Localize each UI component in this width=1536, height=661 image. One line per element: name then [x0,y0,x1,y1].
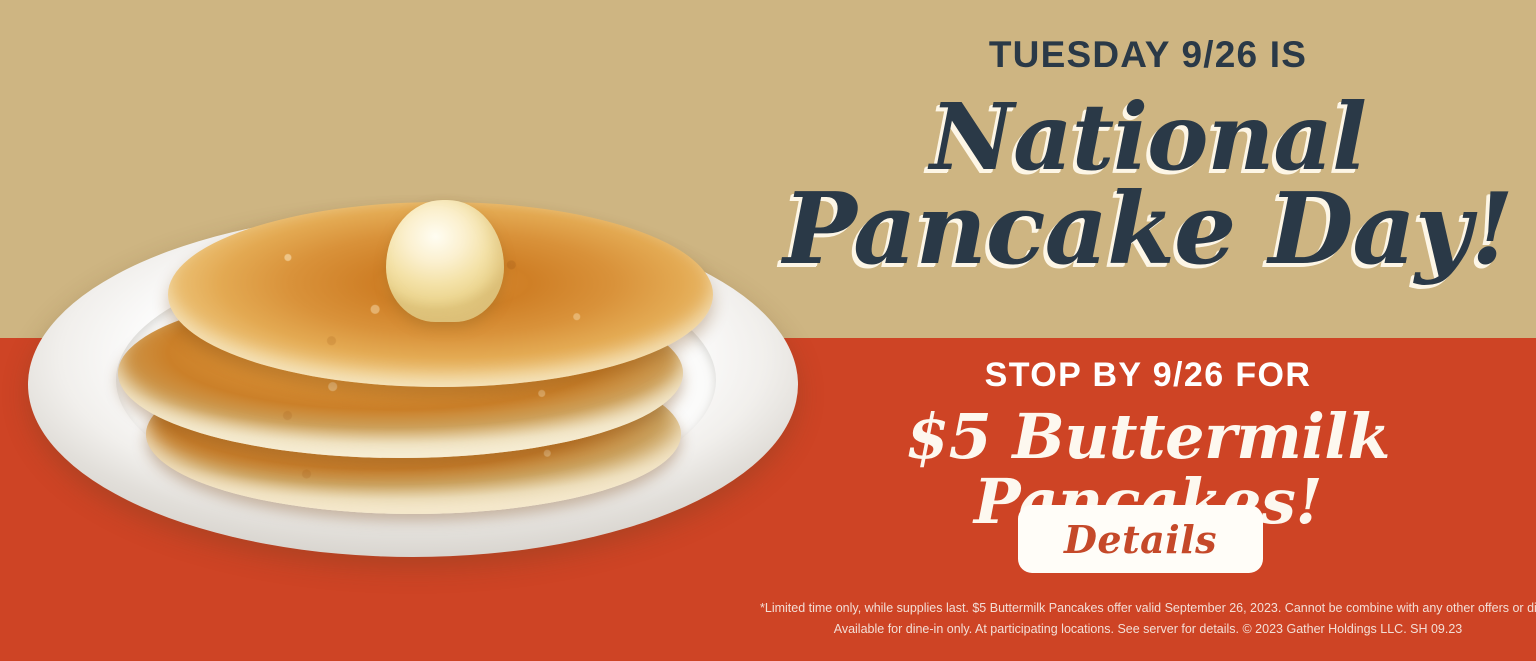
disclaimer: *Limited time only, while supplies last.… [760,598,1536,639]
disclaimer-line-2: Available for dine-in only. At participa… [760,619,1536,640]
promo-sub-kicker: STOP BY 9/26 FOR [760,358,1536,392]
promo-banner: TUESDAY 9/26 IS National Pancake Day! ST… [0,0,1536,661]
headline-line-2: Pancake Day! [760,182,1536,278]
disclaimer-line-1: *Limited time only, while supplies last.… [760,598,1536,619]
butter-pat [386,200,504,322]
pancake-stack-photo [18,92,808,562]
details-button[interactable]: Details [1018,505,1263,573]
promo-headline: National Pancake Day! [760,92,1536,278]
promo-kicker: TUESDAY 9/26 IS [760,36,1536,73]
